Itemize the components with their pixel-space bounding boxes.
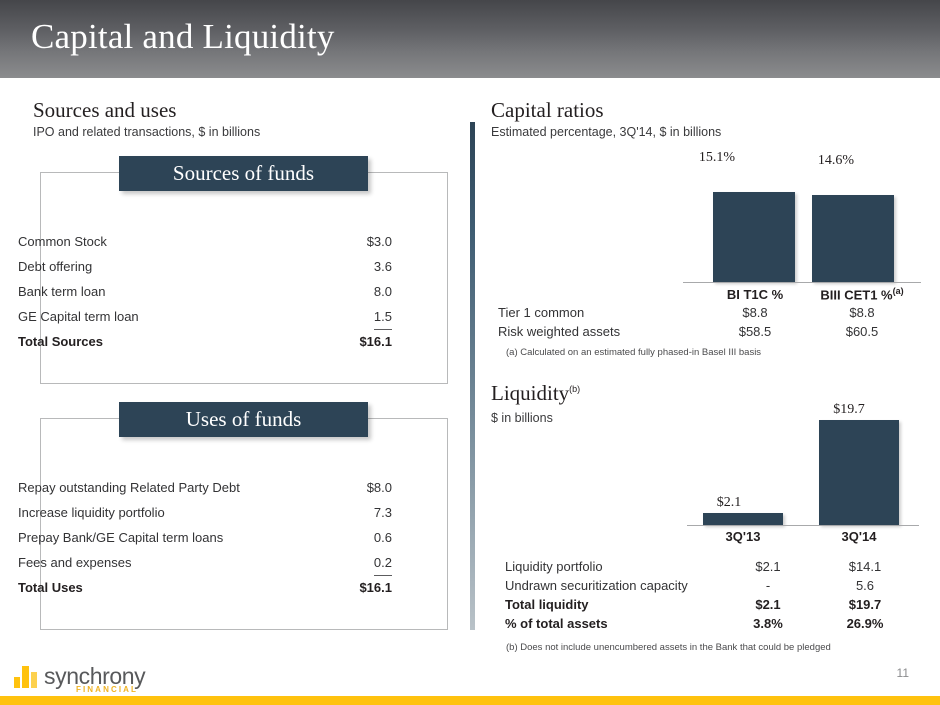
row-value: 7.3 [374,500,392,525]
row-label: Fees and expenses [18,550,131,575]
row-label: Risk weighted assets [498,324,702,343]
row-value: 8.0 [374,279,392,304]
logo-bar-2 [22,666,29,688]
row-label: Increase liquidity portfolio [18,500,165,525]
row-value: 5.6 [814,578,916,597]
bar-chart-logo-icon [14,666,40,688]
total-label: Total Sources [18,329,103,354]
bar-label-3q14: $19.7 [809,402,889,418]
total-value: $16.1 [359,575,392,600]
row-value: $19.7 [814,597,916,616]
row-value: 0.2 [374,552,392,576]
row-label: Prepay Bank/GE Capital term loans [18,525,223,550]
liquidity-axis [687,525,919,526]
row-value: 3.6 [374,254,392,279]
bar-bi-t1c [713,192,795,282]
capital-ratios-heading: Capital ratios [491,98,604,123]
row-label: Tier 1 common [498,305,702,324]
row-value: $60.5 [808,324,916,343]
bar-label-bi-t1c: 15.1% [677,150,757,166]
capital-ratios-footnote: (a) Calculated on an estimated fully pha… [506,347,761,358]
row-value: $8.8 [808,305,916,324]
column-divider [470,122,475,630]
synchrony-logo: synchrony FINANCIAL [14,661,149,693]
table-row-total: Total Sources $16.1 [18,329,392,354]
capital-ratios-axis [683,282,921,283]
row-value: 0.6 [374,525,392,550]
row-value: 26.9% [814,616,916,635]
sources-and-uses-heading: Sources and uses [33,98,176,123]
column-header-biii-cet1-text: BIII CET1 % [820,287,892,302]
row-label: Common Stock [18,229,107,254]
row-label: Total liquidity [505,597,722,616]
logo-subtext: FINANCIAL [76,685,138,694]
uses-of-funds-banner: Uses of funds [119,402,368,437]
capital-ratios-table: BI T1C % BIII CET1 %(a) Tier 1 common $8… [498,286,916,343]
row-label: Bank term loan [18,279,105,304]
table-row: Total liquidity $2.1 $19.7 [505,597,916,616]
table-row: Increase liquidity portfolio 7.3 [18,500,392,525]
bar-3q13 [703,513,783,525]
bar-label-biii-cet1: 14.6% [796,153,876,169]
table-row: Bank term loan 8.0 [18,279,392,304]
footnote-marker-b: (b) [569,384,580,394]
footer-accent-bar [0,696,940,705]
liquidity-chart: $2.1 $19.7 3Q'13 3Q'14 [491,400,921,530]
table-row: Tier 1 common $8.8 $8.8 [498,305,916,324]
page-number: 11 [897,666,909,680]
sources-and-uses-subheading: IPO and related transactions, $ in billi… [33,125,260,139]
table-row: Risk weighted assets $58.5 $60.5 [498,324,916,343]
table-row: Liquidity portfolio $2.1 $14.1 [505,559,916,578]
row-value: $14.1 [814,559,916,578]
row-value: $8.0 [367,475,392,500]
logo-bar-3 [31,672,37,688]
table-row: Common Stock $3.0 [18,229,392,254]
sources-of-funds-banner: Sources of funds [119,156,368,191]
table-corner-cell [498,286,702,305]
column-header-biii-cet1: BIII CET1 %(a) [808,286,916,305]
table-row: Prepay Bank/GE Capital term loans 0.6 [18,525,392,550]
row-label: Debt offering [18,254,92,279]
row-value: - [722,578,814,597]
slide: Capital and Liquidity Sources and uses I… [0,0,940,705]
liquidity-footnote: (b) Does not include unencumbered assets… [506,642,831,653]
row-value: 1.5 [374,306,392,330]
table-row: Fees and expenses 0.2 [18,550,392,575]
liquidity-table: Liquidity portfolio $2.1 $14.1 Undrawn s… [505,559,916,635]
table-row: % of total assets 3.8% 26.9% [505,616,916,635]
row-value: $2.1 [722,559,814,578]
capital-ratios-subheading: Estimated percentage, 3Q'14, $ in billio… [491,125,721,139]
table-row: Debt offering 3.6 [18,254,392,279]
row-value: $3.0 [367,229,392,254]
total-value: $16.1 [359,329,392,354]
row-label: Liquidity portfolio [505,559,722,578]
bar-biii-cet1 [812,195,894,282]
bar-3q14 [819,420,899,525]
category-label-3q13: 3Q'13 [703,529,783,544]
table-row: GE Capital term loan 1.5 [18,304,392,329]
row-label: Undrawn securitization capacity [505,578,722,597]
row-value: $8.8 [702,305,808,324]
table-row: Repay outstanding Related Party Debt $8.… [18,475,392,500]
table-row: Undrawn securitization capacity - 5.6 [505,578,916,597]
category-label-3q14: 3Q'14 [819,529,899,544]
logo-bar-1 [14,677,20,688]
row-value: 3.8% [722,616,814,635]
row-label: Repay outstanding Related Party Debt [18,475,240,500]
row-label: % of total assets [505,616,722,635]
table-row-total: Total Uses $16.1 [18,575,392,600]
row-label: GE Capital term loan [18,304,139,329]
row-value: $58.5 [702,324,808,343]
total-label: Total Uses [18,575,83,600]
footnote-marker-a: (a) [893,286,904,296]
uses-of-funds-rows: Repay outstanding Related Party Debt $8.… [18,475,392,600]
capital-ratios-chart: 15.1% 14.6% [491,150,921,285]
column-header-bi-t1c: BI T1C % [702,286,808,305]
sources-of-funds-rows: Common Stock $3.0 Debt offering 3.6 Bank… [18,229,392,354]
table-header-row: BI T1C % BIII CET1 %(a) [498,286,916,305]
bar-label-3q13: $2.1 [689,495,769,511]
page-title: Capital and Liquidity [31,17,335,57]
row-value: $2.1 [722,597,814,616]
